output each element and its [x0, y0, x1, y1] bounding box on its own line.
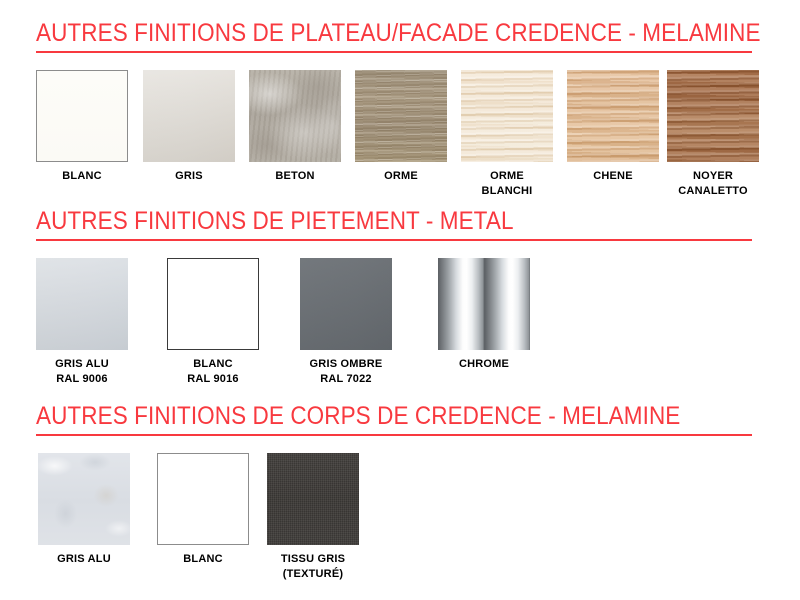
section-divider [36, 239, 752, 241]
swatch-color-gris-ombre[interactable] [300, 258, 392, 350]
swatch-item-chrome[interactable]: CHROME [438, 258, 530, 372]
section-header: AUTRES FINITIONS DE PLATEAU/FACADE CREDE… [36, 18, 752, 58]
section-divider [36, 51, 752, 53]
swatch-label-blanc: BLANC [36, 169, 128, 184]
swatch-label-beton: BETON [249, 169, 341, 184]
swatch-color-blanc[interactable] [157, 453, 249, 545]
swatch-label-orme-blanchi: ORME BLANCHI [461, 169, 553, 199]
section-title: AUTRES FINITIONS DE PLATEAU/FACADE CREDE… [36, 18, 761, 48]
section-header: AUTRES FINITIONS DE PIETEMENT - METAL [36, 206, 752, 246]
section-header: AUTRES FINITIONS DE CORPS DE CREDENCE - … [36, 401, 752, 441]
swatch-item-gris-alu[interactable]: GRIS ALU RAL 9006 [36, 258, 128, 387]
swatch-item-chene[interactable]: CHENE [567, 70, 659, 184]
section-divider [36, 434, 752, 436]
swatch-label-gris-alu: GRIS ALU RAL 9006 [36, 357, 128, 387]
swatch-label-gris-ombre: GRIS OMBRE RAL 7022 [300, 357, 392, 387]
swatch-item-orme[interactable]: ORME [355, 70, 447, 184]
swatch-label-noyer-canaletto: NOYER CANALETTO [667, 169, 759, 199]
swatch-color-beton[interactable] [249, 70, 341, 162]
swatch-label-blanc: BLANC RAL 9016 [167, 357, 259, 387]
section-title: AUTRES FINITIONS DE PIETEMENT - METAL [36, 206, 514, 236]
swatch-color-blanc[interactable] [167, 258, 259, 350]
swatch-item-gris-ombre[interactable]: GRIS OMBRE RAL 7022 [300, 258, 392, 387]
swatch-color-noyer-canaletto[interactable] [667, 70, 759, 162]
swatch-grid: GRIS ALU RAL 9006 BLANC RAL 9016 GRIS OM… [0, 258, 800, 388]
swatch-label-orme: ORME [355, 169, 447, 184]
swatch-color-gris-alu[interactable] [38, 453, 130, 545]
swatch-color-blanc[interactable] [36, 70, 128, 162]
swatch-label-tissu-gris: TISSU GRIS (TEXTURÉ) [267, 552, 359, 582]
swatch-item-gris-alu[interactable]: GRIS ALU [38, 453, 130, 567]
swatch-item-blanc[interactable]: BLANC RAL 9016 [167, 258, 259, 387]
swatch-grid: GRIS ALU BLANC TISSU GRIS (TEXTURÉ) [0, 453, 800, 583]
swatch-item-tissu-gris[interactable]: TISSU GRIS (TEXTURÉ) [267, 453, 359, 582]
swatch-grid: BLANC GRIS BETON ORME ORME BLANCHI CHENE [0, 70, 800, 200]
swatch-item-noyer-canaletto[interactable]: NOYER CANALETTO [667, 70, 759, 199]
section-title: AUTRES FINITIONS DE CORPS DE CREDENCE - … [36, 401, 680, 431]
swatch-color-orme-blanchi[interactable] [461, 70, 553, 162]
swatch-label-gris: GRIS [143, 169, 235, 184]
swatch-label-gris-alu: GRIS ALU [38, 552, 130, 567]
swatch-color-gris-alu[interactable] [36, 258, 128, 350]
finishes-catalog-page: AUTRES FINITIONS DE PLATEAU/FACADE CREDE… [0, 0, 800, 600]
swatch-color-chrome[interactable] [438, 258, 530, 350]
swatch-item-gris[interactable]: GRIS [143, 70, 235, 184]
swatch-color-orme[interactable] [355, 70, 447, 162]
swatch-label-blanc: BLANC [157, 552, 249, 567]
swatch-label-chrome: CHROME [438, 357, 530, 372]
swatch-item-orme-blanchi[interactable]: ORME BLANCHI [461, 70, 553, 199]
swatch-item-blanc[interactable]: BLANC [36, 70, 128, 184]
swatch-item-beton[interactable]: BETON [249, 70, 341, 184]
swatch-color-tissu-gris[interactable] [267, 453, 359, 545]
swatch-color-gris[interactable] [143, 70, 235, 162]
swatch-color-chene[interactable] [567, 70, 659, 162]
swatch-item-blanc[interactable]: BLANC [157, 453, 249, 567]
swatch-label-chene: CHENE [567, 169, 659, 184]
